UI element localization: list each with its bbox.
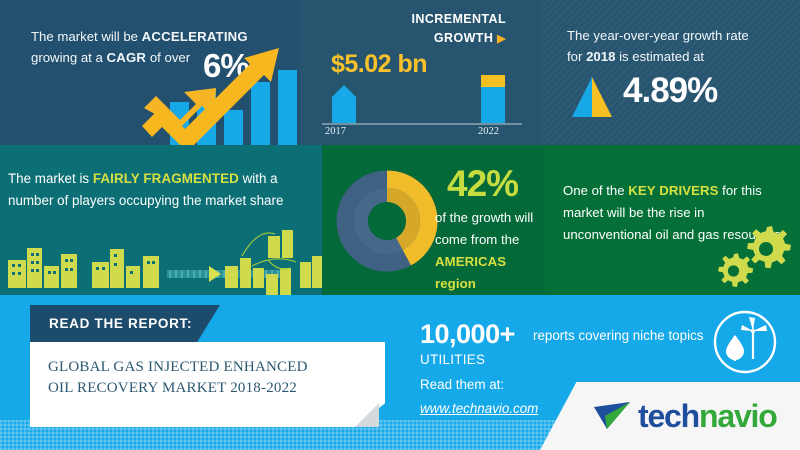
- logo-text-navio: navio: [699, 398, 777, 434]
- fragmentation-statement: The market is FAIRLY FRAGMENTED with a n…: [8, 168, 314, 212]
- reports-subtitle: reports covering niche topics: [533, 328, 703, 343]
- paper-plane-icon: [592, 399, 632, 433]
- technavio-wordmark: technavio: [638, 398, 777, 435]
- infographic-canvas: The market will be ACCELERATING growing …: [0, 0, 800, 450]
- gears-icon: [715, 223, 795, 291]
- caret-right-icon: ▶: [497, 33, 506, 45]
- americas-donut-chart: [336, 170, 438, 272]
- fragmentation-buildings-illustration: [0, 230, 322, 295]
- read-them-at-label: Read them at:: [420, 377, 504, 392]
- americas-percentage: 42%: [447, 163, 518, 205]
- panel-yoy-growth: The year-over-year growth rate for 2018 …: [540, 0, 800, 145]
- panel-incremental-growth: INCREMENTAL GROWTH ▶ $5.02 bn 2017 2022: [300, 0, 540, 145]
- incremental-growth-label: INCREMENTAL GROWTH ▶: [336, 10, 506, 49]
- logo-text-tech: tech: [638, 398, 699, 434]
- yoy-value: 4.89%: [623, 71, 717, 111]
- read-the-report-banner: READ THE REPORT:: [30, 305, 220, 342]
- utilities-windmill-icon: [712, 309, 778, 375]
- panel-market-fragmentation: The market is FAIRLY FRAGMENTED with a n…: [0, 145, 322, 295]
- incremental-year-start: 2017: [325, 126, 346, 137]
- technavio-logo[interactable]: technavio: [592, 395, 777, 437]
- reports-count: 10,000+: [420, 319, 515, 350]
- americas-statement: of the growth will come from the AMERICA…: [435, 207, 545, 295]
- growth-triangle-icon: [570, 75, 614, 119]
- report-title: GLOBAL GAS INJECTED ENHANCED OIL RECOVER…: [48, 357, 333, 399]
- incremental-year-end: 2022: [478, 126, 499, 137]
- yoy-statement: The year-over-year growth rate for 2018 …: [567, 25, 782, 67]
- panel-key-drivers: One of the KEY DRIVERS for this market w…: [545, 145, 800, 295]
- report-category: UTILITIES: [420, 352, 485, 367]
- panel-americas-share: 42% of the growth will come from the AME…: [322, 145, 545, 295]
- panel-footer: READ THE REPORT: GLOBAL GAS INJECTED ENH…: [0, 295, 800, 450]
- website-url-link[interactable]: www.technavio.com: [420, 401, 538, 416]
